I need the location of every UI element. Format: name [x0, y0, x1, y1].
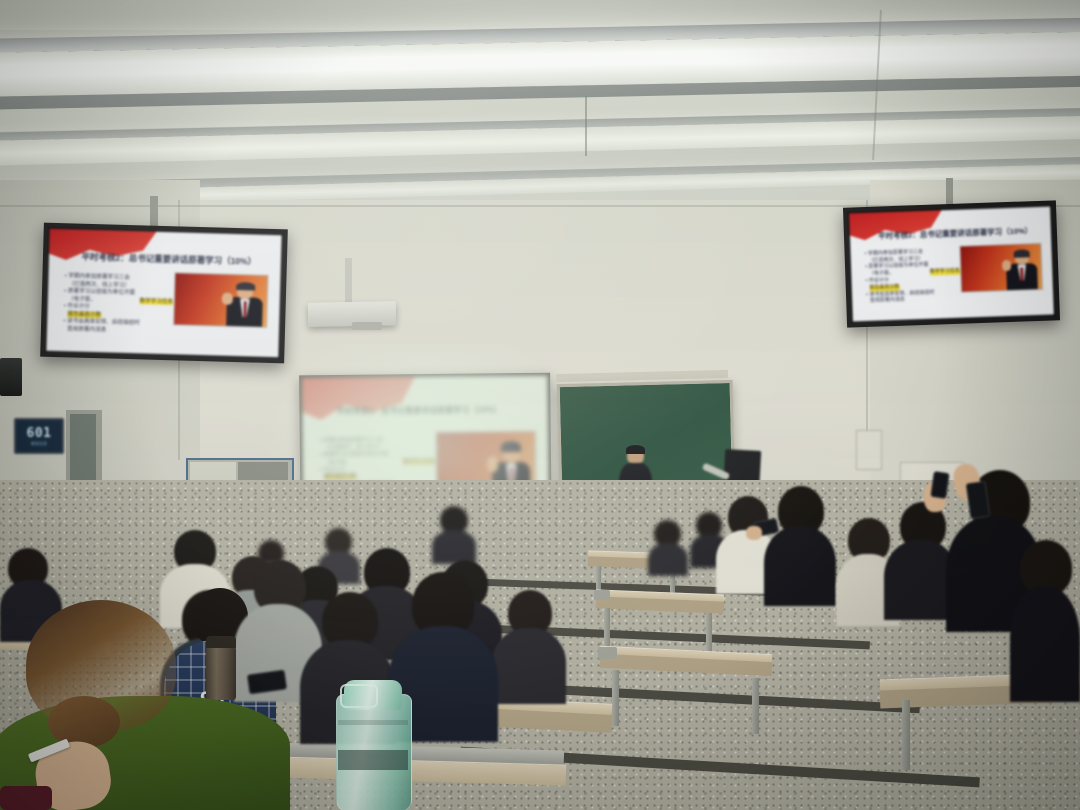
projector-lens [352, 322, 382, 330]
wall-speaker [0, 358, 22, 396]
bullet-marker: • [64, 303, 66, 310]
bullet-marker: • [320, 438, 322, 444]
slide-title: 平时考核2：总书记重要讲话原著学习（10%） [337, 404, 538, 417]
student [492, 590, 566, 702]
foreground-sleeve [0, 786, 52, 810]
bullet-marker: • [865, 252, 867, 258]
slide-bullets: • 学期内参加原著学习三会 （打造两次、线上学习） • 原著学习以班级为单位开展… [865, 249, 961, 307]
lecture-hall-photo: 平时考核2：总书记重要讲话原著学习（10%） • 学期内参加原著学习三会 （打造… [0, 0, 1080, 810]
highlight-1: 教学学习任务 [139, 298, 173, 306]
room-info-text: 教室信息 [31, 441, 47, 447]
desk-leg [902, 700, 910, 770]
slide-right: 平时考核2：总书记重要讲话原著学习（10%） • 学期内参加原著学习三会 （打造… [849, 207, 1054, 322]
bullet-text-4b: 查阅原著内消息 [870, 296, 961, 305]
bullet-text-1: 学期内参加原著学习三会 [323, 437, 435, 445]
bullet-marker: • [865, 265, 867, 271]
bullet-marker: • [320, 453, 322, 459]
bottle-ring [338, 720, 408, 725]
bullet-marker: • [320, 467, 322, 473]
projector-pole [345, 258, 352, 304]
bullet-marker: • [866, 279, 868, 285]
wall-panel [856, 430, 882, 470]
slide-photo [959, 242, 1043, 292]
student [648, 520, 688, 574]
desk-rail [594, 590, 610, 600]
slide-photo-figure [1004, 249, 1041, 290]
desk-leg [752, 678, 759, 734]
student [764, 486, 836, 604]
hand [746, 526, 762, 540]
highlight-1: 教学学习任务 [403, 459, 435, 466]
desk-rail [598, 647, 617, 659]
slide-title: 平时考核2：总书记重要讲话原著学习（10%） [81, 250, 271, 267]
slide-left: 平时考核2：总书记重要讲话原著学习（10%） • 学期内参加原著学习三会 （打造… [46, 229, 281, 357]
slide-photo [173, 273, 269, 329]
bottle-handle [340, 684, 378, 708]
student [432, 506, 476, 562]
bullet-marker: • [866, 293, 868, 299]
slide-bullets: • 学期内参加原著学习三会 （打造两次、线上学习） • 原著学习以班级为单位开展… [63, 273, 174, 337]
bullet-marker: • [63, 319, 65, 326]
slide-photo-figure [224, 281, 266, 327]
instructor-hair [626, 445, 645, 454]
bullet-text-2: 原著学习以班级为单位开展 [324, 451, 436, 459]
room-number-display: 601 教室信息 [14, 418, 64, 454]
bottle-band [338, 750, 408, 770]
bullet-marker: • [65, 273, 67, 280]
bullet-marker: • [64, 288, 66, 295]
right-monitor: 平时考核2：总书记重要讲话原著学习（10%） • 学期内参加原著学习三会 （打造… [843, 200, 1060, 327]
highlight-1: 教学学习任务 [930, 269, 960, 276]
water-bottle [336, 694, 410, 810]
room-number-text: 601 [27, 426, 52, 441]
bullet-text-2b: （电子版， [324, 459, 403, 466]
bullet-text-1b: （打造两次、线上学习） [324, 444, 435, 452]
bullet-text-3: 作业计分 [324, 466, 436, 474]
desk-leg [612, 670, 619, 726]
student [1010, 540, 1080, 700]
left-monitor: 平时考核2：总书记重要讲话原著学习（10%） • 学期内参加原著学习三会 （打造… [40, 223, 288, 364]
left-window-glass [70, 414, 96, 484]
